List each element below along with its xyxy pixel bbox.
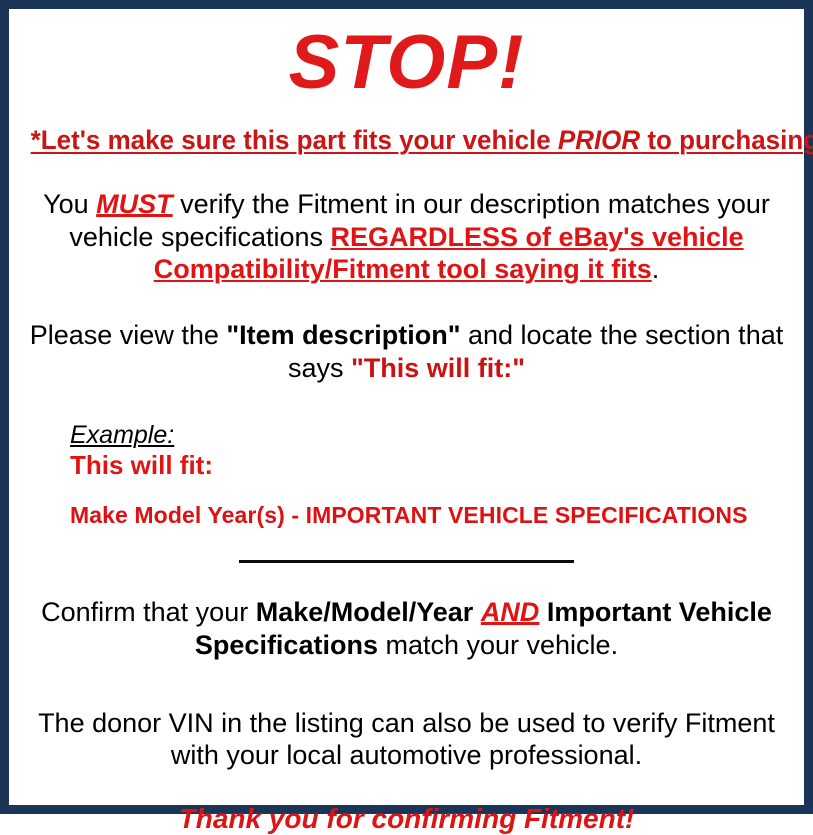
fitment-notice-card: STOP! *Let's make sure this part fits yo… [0,0,813,814]
this-will-fit-quote: "This will fit:" [351,353,525,383]
example-fit-heading: This will fit: [70,449,790,481]
page-title: STOP! [23,9,790,101]
must-verify-paragraph: You MUST verify the Fitment in our descr… [23,155,790,285]
vin-paragraph: The donor VIN in the listing can also be… [23,661,790,772]
example-label: Example: [70,422,174,449]
notice-content-area: STOP! *Let's make sure this part fits yo… [9,9,804,805]
example-spec-line: Make Model Year(s) - IMPORTANT VEHICLE S… [70,481,790,528]
subtitle-suffix: to purchasing* [640,125,813,155]
subtitle-emphasis-prior: PRIOR [558,125,640,155]
item-description-emphasis: "Item description" [226,320,460,350]
horizontal-divider [239,560,574,563]
example-block: Example: This will fit: Make Model Year(… [23,384,790,528]
confirm-part1: Confirm that your [41,597,256,627]
itemdesc-part1: Please view the [30,320,227,350]
must-para-part1: You [43,189,96,219]
must-para-part3: . [652,254,660,284]
confirm-make-model-year: Make/Model/Year [256,597,481,627]
subtitle-prefix: *Let's make sure this part fits your veh… [31,125,558,155]
item-description-paragraph: Please view the "Item description" and l… [23,285,790,384]
must-emphasis: MUST [96,189,173,219]
divider-wrapper [23,528,790,570]
subtitle-banner: *Let's make sure this part fits your veh… [31,101,783,155]
thanks-line: Thank you for confirming Fitment! [23,772,790,835]
confirm-part2: match your vehicle. [378,630,618,660]
confirm-and-emphasis: AND [481,597,540,627]
confirm-paragraph: Confirm that your Make/Model/Year AND Im… [23,570,790,661]
